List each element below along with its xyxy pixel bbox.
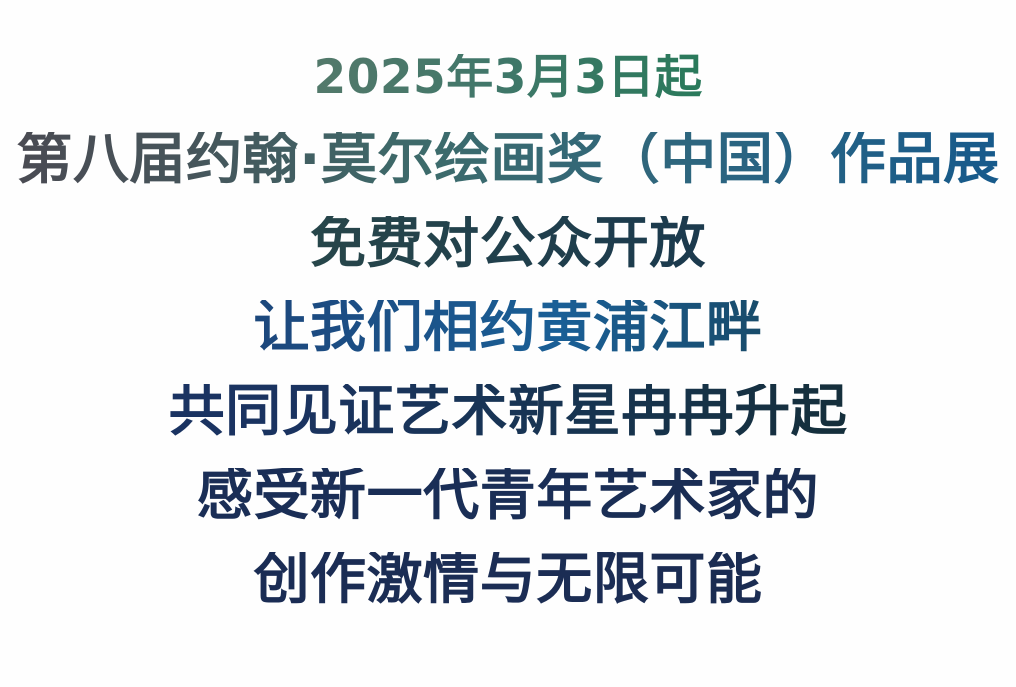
poster-canvas: 2025年3月3日起 第八届约翰·莫尔绘画奖（中国）作品展 免费对公众开放 让我… [0, 0, 1016, 687]
poster-line-creative-passion: 创作激情与无限可能 [0, 552, 1016, 618]
poster-line-exhibition-title: 第八届约翰·莫尔绘画奖（中国）作品展 [0, 132, 1016, 198]
poster-line-date: 2025年3月3日起 [0, 54, 1016, 112]
poster-line-free-admission: 免费对公众开放 [0, 216, 1016, 282]
poster-line-meet-at-huangpu: 让我们相约黄浦江畔 [0, 300, 1016, 366]
poster-line-feel-young-artists: 感受新一代青年艺术家的 [0, 468, 1016, 534]
poster-line-witness-rising-stars: 共同见证艺术新星冉冉升起 [0, 384, 1016, 450]
